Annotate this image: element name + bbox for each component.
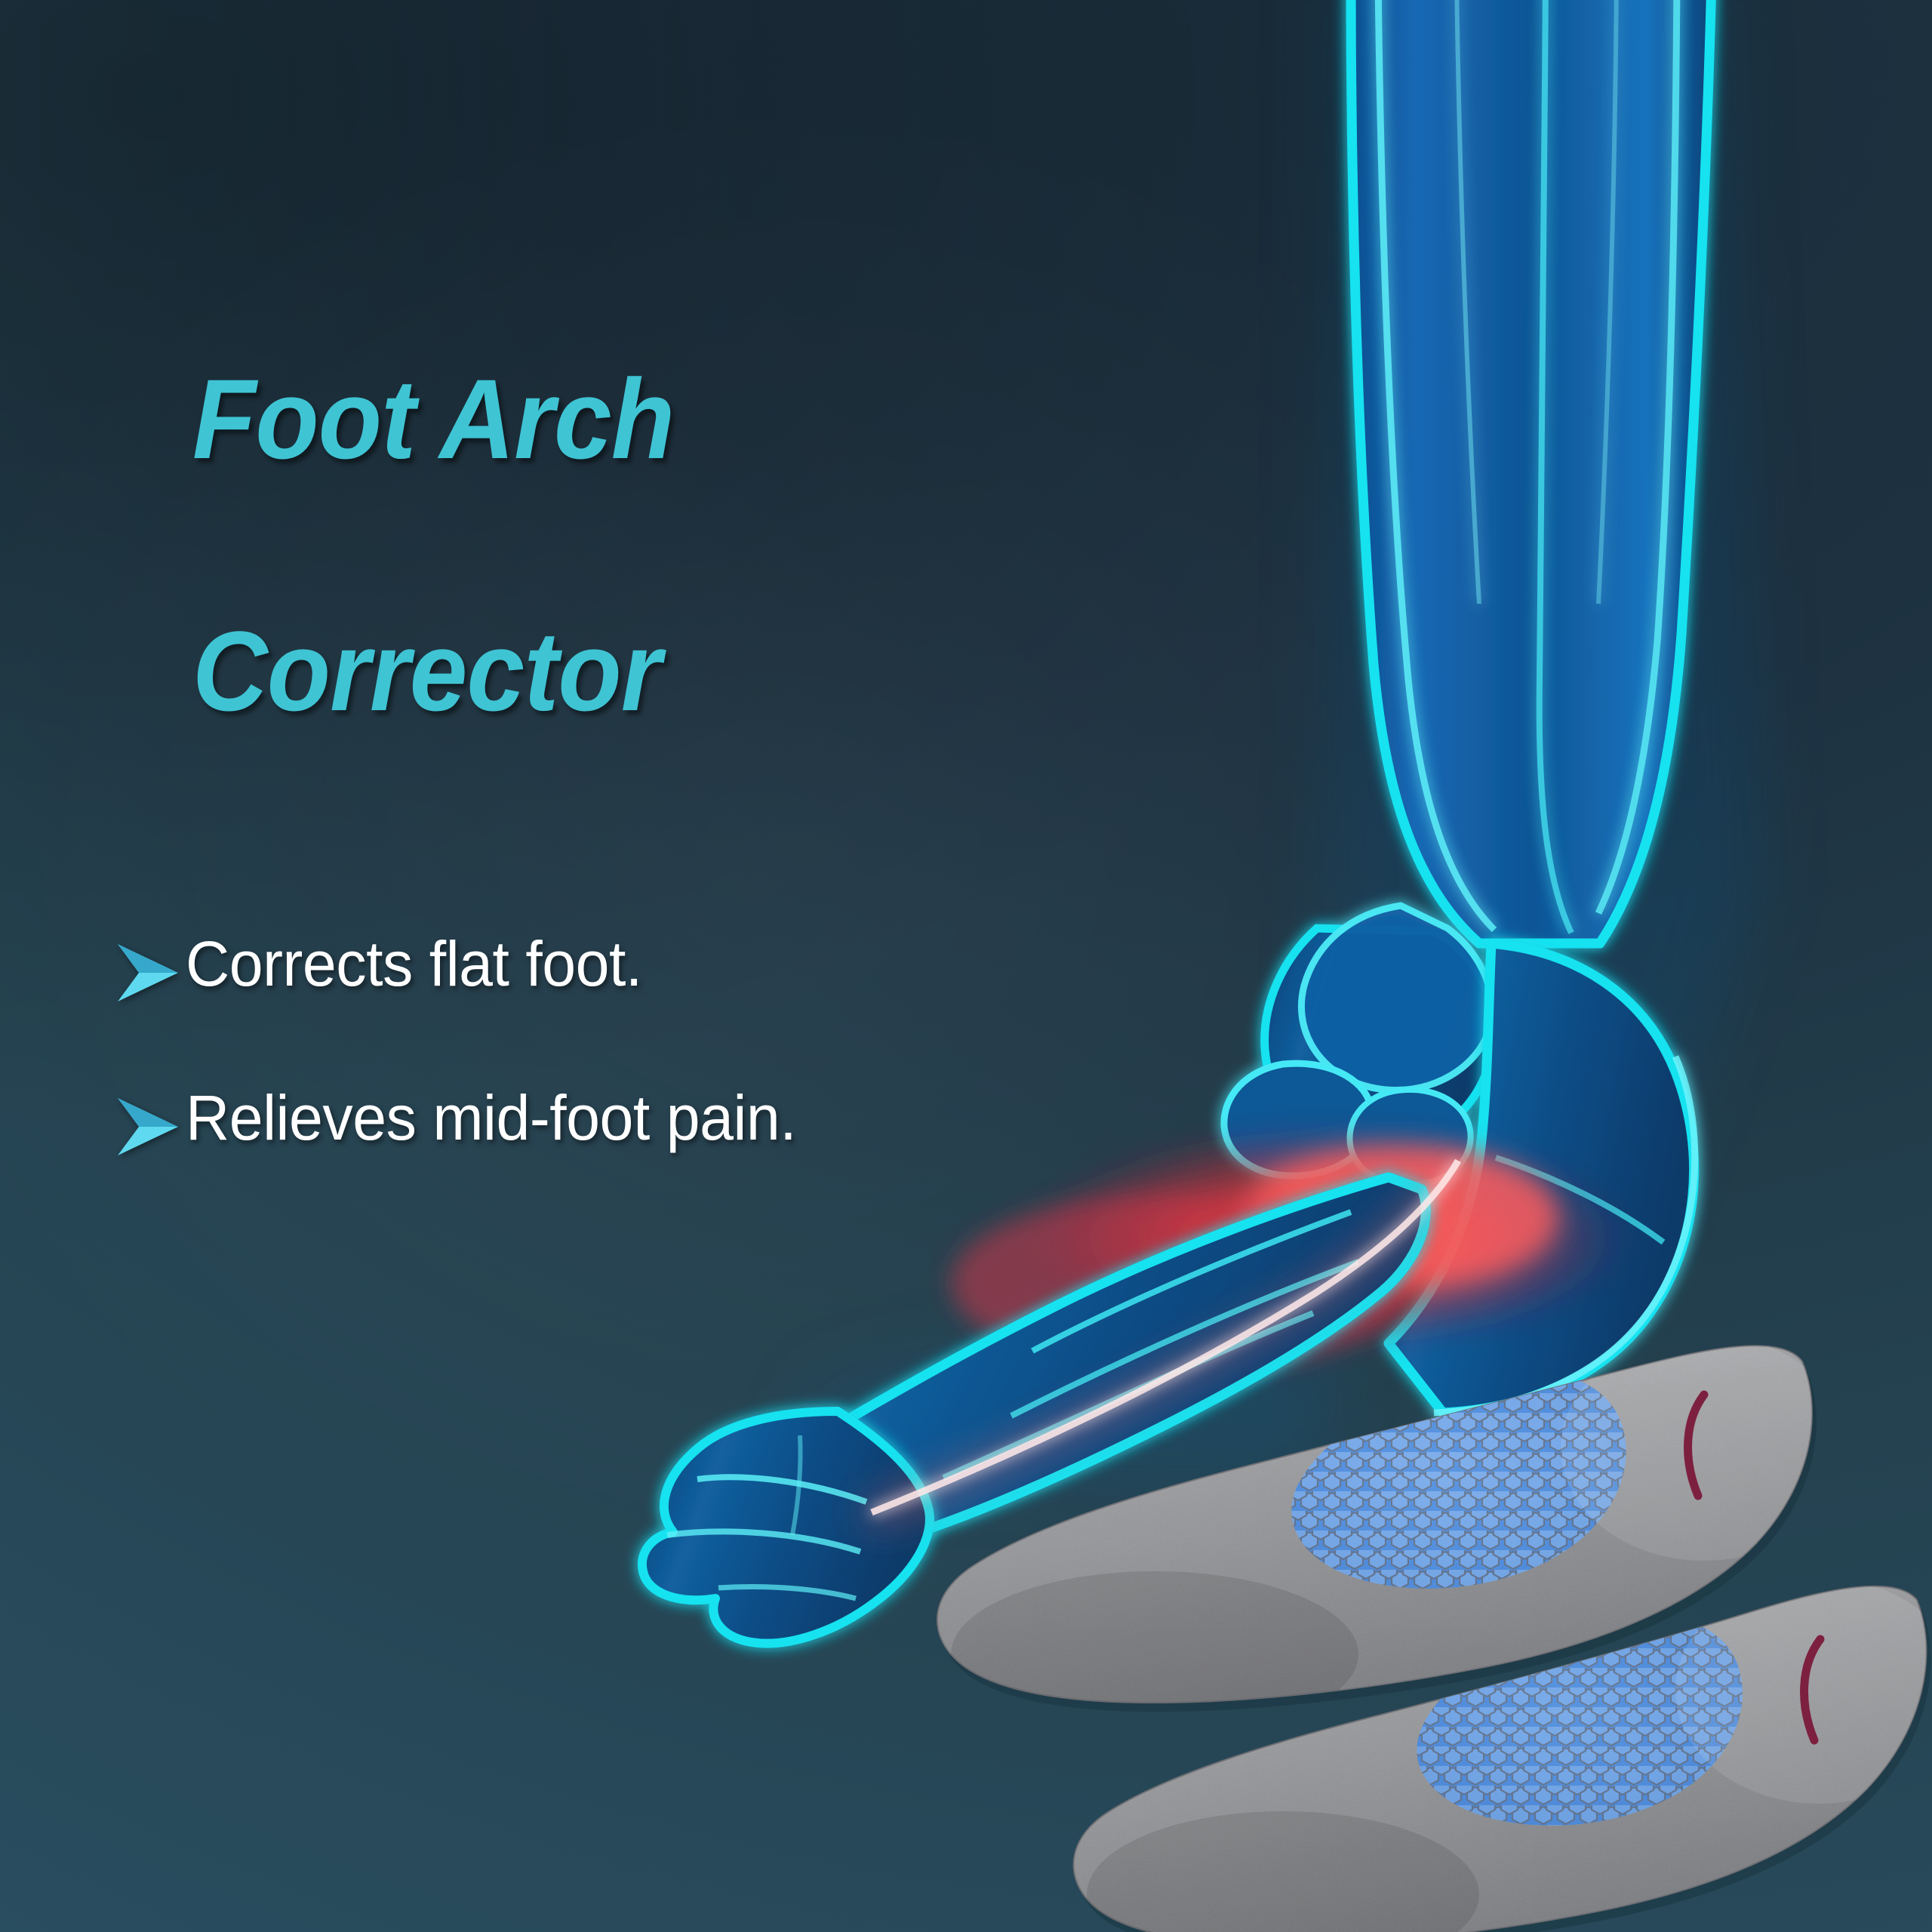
benefit-text: Corrects flat foot. (186, 932, 642, 995)
product-marketing-image: tynor (0, 0, 1932, 1932)
arrow-chevron-icon (113, 932, 186, 1006)
benefit-text: Relieves mid-foot pain. (186, 1086, 796, 1149)
list-item: Relieves mid-foot pain. (113, 1086, 1245, 1160)
list-item: Corrects flat foot. (113, 932, 1245, 1006)
title-line-2: Corrector (192, 614, 956, 729)
title-line-1: Foot Arch (192, 361, 956, 477)
benefits-list: Corrects flat foot. Relieves mid-foot pa… (113, 932, 1245, 1240)
page-title: Foot Arch Corrector (192, 246, 956, 844)
arrow-chevron-icon (113, 1086, 186, 1160)
upper-insole: tynor (913, 1334, 1826, 1727)
